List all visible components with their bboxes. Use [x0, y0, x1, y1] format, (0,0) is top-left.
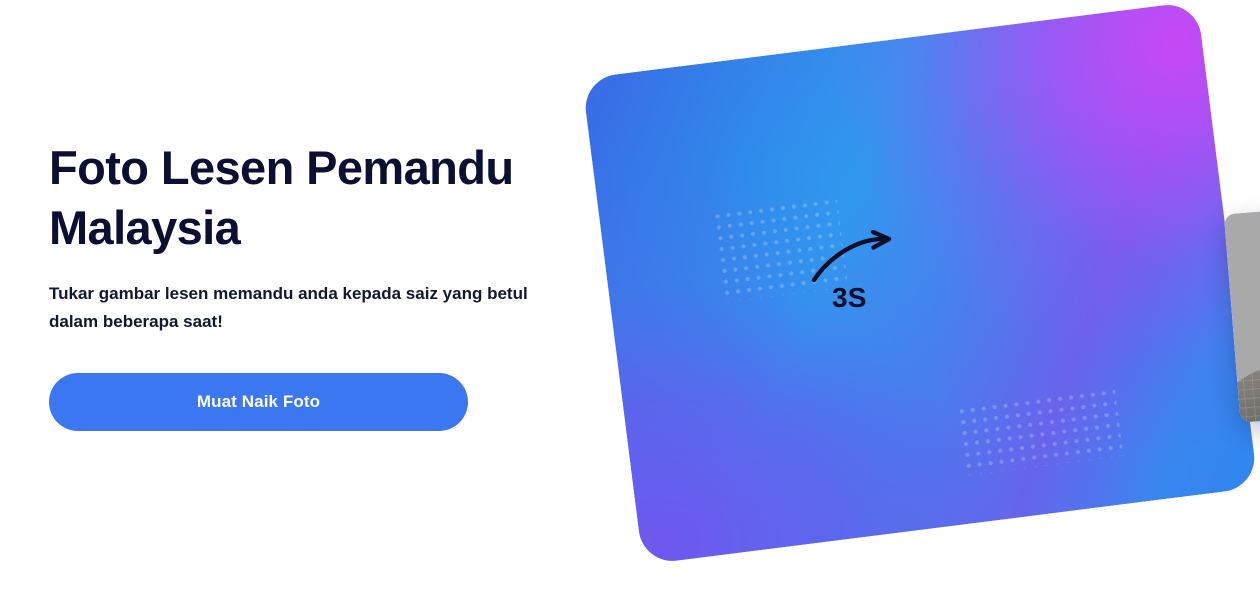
hero-visual: 3S — [596, 8, 1244, 574]
page-title: Foto Lesen Pemandu Malaysia — [49, 138, 519, 258]
hero-section: Foto Lesen Pemandu Malaysia Tukar gambar… — [0, 0, 1260, 589]
hero-subtitle: Tukar gambar lesen memandu anda kepada s… — [49, 280, 564, 335]
gradient-card-surface — [582, 1, 1259, 565]
hero-copy: Foto Lesen Pemandu Malaysia Tukar gambar… — [49, 138, 589, 431]
processing-time-label: 3S — [832, 282, 867, 314]
curved-arrow-right-icon — [810, 230, 914, 290]
gradient-card — [582, 1, 1259, 565]
upload-photo-button[interactable]: Muat Naik Foto — [49, 373, 468, 431]
conversion-indicator: 3S — [810, 230, 914, 334]
